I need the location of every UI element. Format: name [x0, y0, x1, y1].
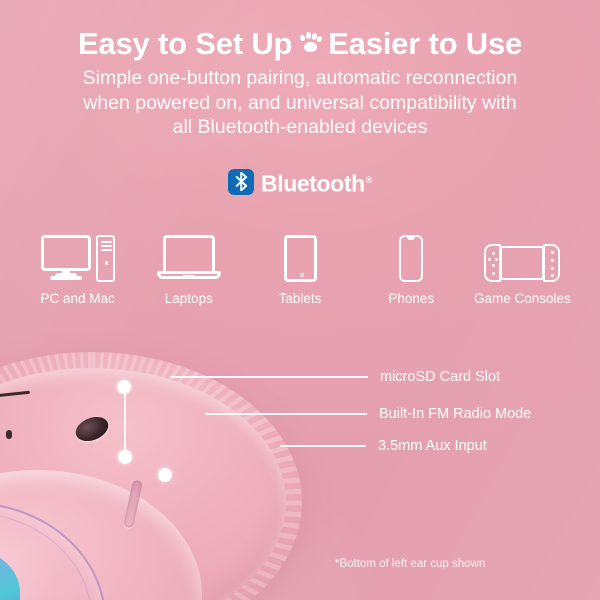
ear-cup-decorative-ring-inner — [0, 512, 92, 600]
subtitle-line-1: Simple one-button pairing, automatic rec… — [0, 66, 600, 91]
monitor-icon — [41, 235, 91, 282]
callout-marker-dot — [158, 468, 172, 482]
callout-aux-input: 3.5mm Aux Input — [280, 438, 487, 454]
callout-marker-dot — [118, 450, 132, 464]
device-label-game-consoles: Game Consoles — [474, 291, 571, 306]
registered-mark: ® — [366, 175, 372, 185]
bluetooth-badge: Bluetooth® — [0, 167, 600, 197]
aux-input-port — [72, 412, 112, 445]
callout-fm-radio-mode: Built-In FM Radio Mode — [205, 406, 531, 422]
device-item-game-consoles: Game Consoles — [467, 226, 578, 306]
jellyfish-character-icon — [0, 550, 32, 600]
device-label-tablets: Tablets — [279, 291, 322, 306]
bluetooth-wordmark: Bluetooth® — [261, 167, 372, 197]
handheld-game-console-icon — [484, 226, 560, 282]
ear-cup-textured-rim — [0, 352, 302, 600]
device-item-laptops: Laptops — [133, 226, 244, 306]
leader-line — [170, 376, 368, 377]
device-label-laptops: Laptops — [165, 291, 213, 306]
laptop-icon — [157, 226, 221, 282]
desktop-monitor-and-tower-icon — [41, 226, 115, 282]
leader-line — [205, 413, 367, 414]
product-image-headphone-ear-cup — [0, 352, 312, 600]
footnote: *Bottom of left ear cup shown — [335, 558, 485, 570]
ear-cup-mid-surface — [0, 368, 286, 600]
promo-graphic-page: Easy to Set UpEasier to Use Simple one-b… — [0, 0, 600, 600]
tower-icon — [96, 235, 115, 282]
subtitle-line-2: when powered on, and universal compatibi… — [0, 91, 600, 116]
callout-label: Built-In FM Radio Mode — [379, 406, 531, 422]
ear-cup-outer-shell — [0, 352, 302, 600]
callout-label: 3.5mm Aux Input — [378, 438, 487, 454]
paw-print-icon — [299, 31, 321, 53]
bluetooth-wordmark-text: Bluetooth — [261, 171, 365, 197]
device-item-pc-and-mac: PC and Mac — [22, 226, 133, 306]
button-slot-detail — [0, 391, 30, 400]
callout-marker-dot — [117, 380, 131, 394]
headline-right-text: Easier to Use — [328, 26, 522, 61]
microsd-card-slot-opening — [123, 479, 143, 528]
headline-left-text: Easy to Set Up — [78, 26, 292, 61]
device-compatibility-row: PC and Mac Laptops Tablets Phones — [22, 226, 578, 306]
ear-cup-inner-surface — [0, 470, 202, 600]
device-label-pc-and-mac: PC and Mac — [40, 291, 114, 306]
ear-cup-decorative-ring — [0, 502, 106, 600]
device-item-tablets: Tablets — [244, 226, 355, 306]
device-item-phones: Phones — [356, 226, 467, 306]
page-title: Easy to Set UpEasier to Use — [0, 22, 600, 64]
subtitle-line-3: all Bluetooth-enabled devices — [0, 115, 600, 140]
callout-label: microSD Card Slot — [380, 369, 500, 385]
indicator-detail — [6, 430, 12, 439]
device-label-phones: Phones — [388, 291, 434, 306]
subtitle: Simple one-button pairing, automatic rec… — [0, 66, 600, 140]
background-glow — [0, 300, 600, 600]
callout-microsd-card-slot: microSD Card Slot — [170, 369, 500, 385]
leader-line — [280, 445, 366, 446]
smartphone-icon — [399, 226, 423, 282]
marker-connector-line — [124, 392, 126, 452]
tablet-icon — [284, 226, 317, 282]
bluetooth-rune-icon — [228, 169, 254, 195]
